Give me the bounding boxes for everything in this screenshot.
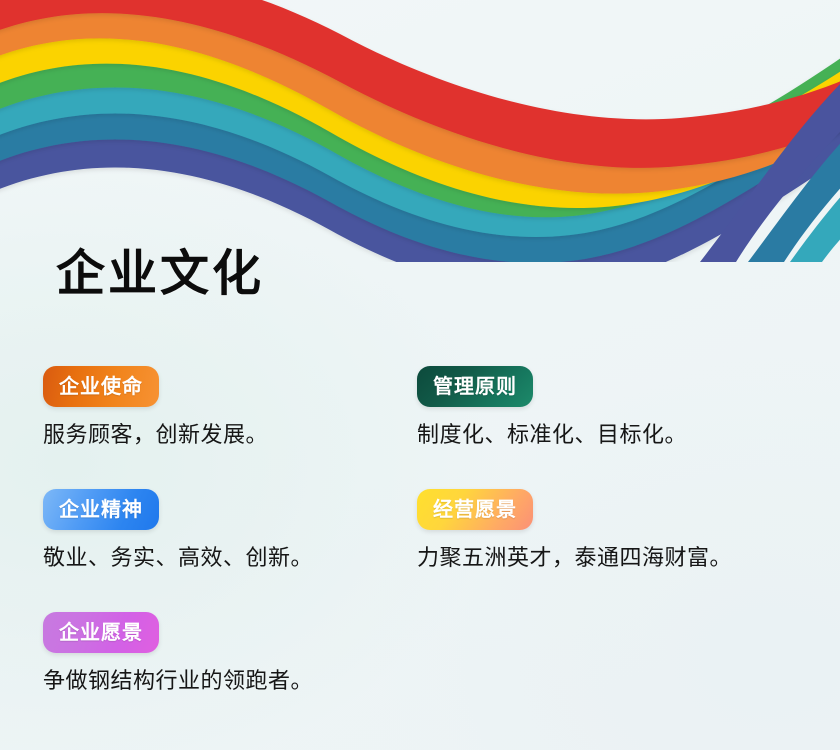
badge-mission: 企业使命 <box>43 366 159 407</box>
rainbow-wave-banner <box>0 0 840 262</box>
desc-business-vision: 力聚五洲英才，泰通四海财富。 <box>417 545 732 573</box>
page-title: 企业文化 <box>56 248 264 299</box>
culture-item-spirit: 企业精神 敬业、务实、高效、创新。 <box>43 489 313 573</box>
badge-management-principles: 管理原则 <box>417 366 533 407</box>
culture-item-corporate-vision: 企业愿景 争做钢结构行业的领跑者。 <box>43 612 313 696</box>
desc-management-principles: 制度化、标准化、目标化。 <box>417 422 687 450</box>
desc-mission: 服务顾客，创新发展。 <box>43 422 268 450</box>
badge-business-vision: 经营愿景 <box>417 489 533 530</box>
culture-row: 企业使命 服务顾客，创新发展。 管理原则 制度化、标准化、目标化。 <box>0 366 840 489</box>
culture-sections: 企业使命 服务顾客，创新发展。 管理原则 制度化、标准化、目标化。 企业精神 敬… <box>0 366 840 735</box>
culture-item-management-principles: 管理原则 制度化、标准化、目标化。 <box>417 366 687 450</box>
desc-spirit: 敬业、务实、高效、创新。 <box>43 545 313 573</box>
culture-item-mission: 企业使命 服务顾客，创新发展。 <box>43 366 268 450</box>
badge-spirit: 企业精神 <box>43 489 159 530</box>
corporate-culture-page: 企业文化 企业使命 服务顾客，创新发展。 管理原则 制度化、标准化、目标化。 企… <box>0 0 840 750</box>
culture-row: 企业精神 敬业、务实、高效、创新。 经营愿景 力聚五洲英才，泰通四海财富。 <box>0 489 840 612</box>
culture-item-business-vision: 经营愿景 力聚五洲英才，泰通四海财富。 <box>417 489 732 573</box>
badge-corporate-vision: 企业愿景 <box>43 612 159 653</box>
desc-corporate-vision: 争做钢结构行业的领跑者。 <box>43 668 313 696</box>
culture-row: 企业愿景 争做钢结构行业的领跑者。 <box>0 612 840 735</box>
